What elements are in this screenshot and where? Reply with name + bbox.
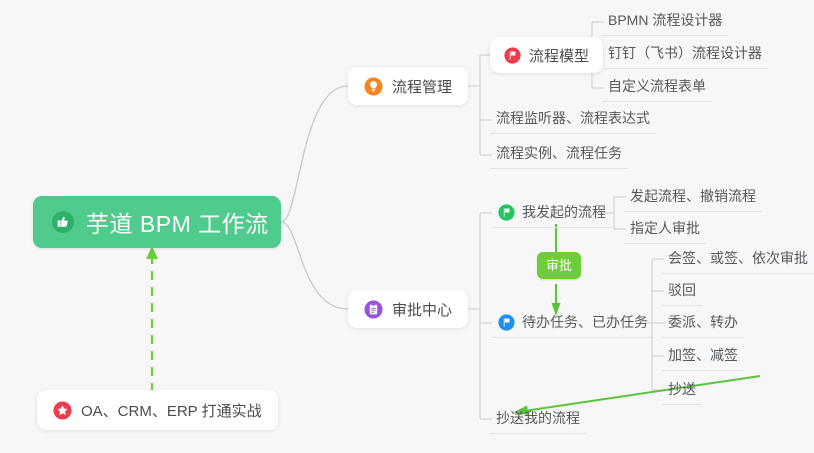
root-node[interactable]: 芋道 BPM 工作流 [33,196,281,248]
branch-label: 流程管理 [392,76,452,97]
mindmap-canvas: 芋道 BPM 工作流 流程管理 流程模型 BPMN 流程设计器 钉钉（飞书）流程 [0,0,814,453]
clipboard-icon [364,300,383,319]
branch-node-process-management[interactable]: 流程管理 [348,67,468,105]
leaf-delegate-transfer[interactable]: 委派、转办 [662,312,744,338]
branch-node-approval-center[interactable]: 审批中心 [348,290,468,328]
node-label: 流程模型 [529,45,589,66]
leaf-reject[interactable]: 驳回 [662,280,702,306]
thumbs-up-icon [51,210,75,234]
leaf-start-cancel-process[interactable]: 发起流程、撤销流程 [624,186,762,212]
leaf-label: 抄送 [668,379,696,399]
leaf-process-instance-task[interactable]: 流程实例、流程任务 [490,143,628,169]
leaf-process-listener-expression[interactable]: 流程监听器、流程表达式 [490,108,656,134]
leaf-bpmn-designer[interactable]: BPMN 流程设计器 [602,10,728,36]
leaf-label: 驳回 [668,280,696,300]
node-my-initiated-processes[interactable]: 我发起的流程 [492,202,612,228]
flag-icon [498,314,515,331]
leaf-label: 自定义流程表单 [608,76,706,96]
approval-badge: 审批 [537,252,581,279]
root-label: 芋道 BPM 工作流 [86,205,269,239]
flag-icon [498,204,515,221]
leaf-label: 发起流程、撤销流程 [630,186,756,206]
leaf-dingtalk-designer[interactable]: 钉钉（飞书）流程设计器 [602,43,768,69]
node-process-model[interactable]: 流程模型 [490,37,603,73]
branch-label: 审批中心 [392,299,452,320]
lightbulb-icon [364,77,383,96]
leaf-label: BPMN 流程设计器 [608,10,722,30]
node-label: 待办任务、已办任务 [522,312,648,332]
leaf-custom-form[interactable]: 自定义流程表单 [602,76,712,102]
footnote-label: OA、CRM、ERP 打通实战 [81,400,262,421]
node-label: 我发起的流程 [522,202,606,222]
leaf-label: 流程实例、流程任务 [496,143,622,163]
leaf-label: 委派、转办 [668,312,738,332]
leaf-add-remove-sign[interactable]: 加签、减签 [662,345,744,371]
leaf-cc[interactable]: 抄送 [662,379,702,405]
leaf-label: 指定人审批 [630,218,700,238]
footnote-node-integration[interactable]: OA、CRM、ERP 打通实战 [37,390,278,430]
leaf-label: 抄送我的流程 [496,408,580,428]
leaf-label: 会签、或签、依次审批 [668,248,808,268]
flag-icon [504,47,521,64]
leaf-assignee-approval[interactable]: 指定人审批 [624,218,706,244]
node-todo-done-tasks[interactable]: 待办任务、已办任务 [492,312,654,338]
leaf-countersign-modes[interactable]: 会签、或签、依次审批 [662,248,814,274]
leaf-cc-to-me[interactable]: 抄送我的流程 [490,408,586,434]
star-icon [53,401,72,420]
leaf-label: 加签、减签 [668,345,738,365]
leaf-label: 钉钉（飞书）流程设计器 [608,43,762,63]
leaf-label: 流程监听器、流程表达式 [496,108,650,128]
